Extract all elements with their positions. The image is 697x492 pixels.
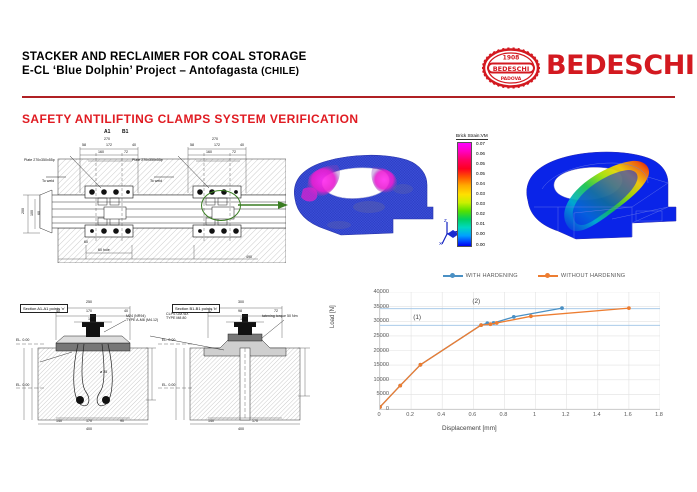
chart-x-tick-2: 0.4 [429,412,453,418]
dim-inner-left-1: 160 [98,150,104,154]
fea-tick-6: 0.03 [476,201,485,206]
chart-plot-area [379,292,660,410]
bedeschi-wordmark: BEDESCHI [546,50,695,81]
fea-color-bar [457,142,472,247]
fea-color-legend: Brick Strain:VM 0.07 0.06 0.05 0.05 0.04… [456,133,512,255]
dim-bottom-left: 60 [84,240,88,244]
torque-note: tatening torque 50 Nm [262,314,298,318]
section-a-label: Section A1-A1 points 'n' [20,304,68,313]
callout-a1: A1 [104,129,110,135]
anchor-note: ø 25 [100,370,107,374]
level-note-4: EL. 0.00 [162,383,175,387]
fea-tick-0: 0.07 [476,141,485,146]
fea-tick-8: 0.01 [476,221,485,226]
fea-tick-3: 0.05 [476,171,485,176]
section-title: SAFETY ANTILIFTING CLAMPS SYSTEM VERIFIC… [22,112,358,126]
legend-item-without-hardening[interactable]: WITHOUT HARDENING [538,273,626,279]
dim-b-row-2: 98 [238,309,242,313]
slide-subtitle-main: E-CL ‘Blue Dolphin’ Project – Antofagast… [22,65,261,77]
dim-vertical-2: 100 [30,210,34,216]
detail-highlight-ellipse [201,190,241,221]
weld-note-right: To weld [150,179,162,183]
chart-y-tick-6: 30000 [349,318,389,324]
dim-part-left-2: 172 [106,143,112,147]
dim-a-row-2: 170 [86,309,92,313]
fea-tick-2: 0.05 [476,161,485,166]
legend-swatch-without-hardening [538,275,558,277]
level-note-2: EL. 0.00 [16,383,29,387]
svg-text:Z: Z [444,218,447,223]
plate-label-right: Plate 270x350x55p [132,158,163,162]
dim-a-row-3: 40 [124,309,128,313]
bedeschi-emblem-icon: 1908 BEDESCHI PADOVA [482,47,540,89]
chart-svg [380,292,660,409]
fea-tick-10: 0.00 [476,242,485,247]
dim-inner-right-2: 72 [232,150,236,154]
slide-subtitle-country: (CHILE) [261,66,299,77]
level-note-3: EL. 0.00 [162,338,175,342]
dim-vertical-3: 60 [37,211,41,215]
slide-title-line-2: E-CL ‘Blue Dolphin’ Project – Antofagast… [22,64,306,79]
title-block: STACKER AND RECLAIMER FOR COAL STORAGE E… [22,50,306,79]
dim-a-bottom-2: 170 [86,419,92,423]
chart-y-tick-1: 5000 [349,391,389,397]
technical-drawing-sections: Section A1-A1 points 'n' Section B1-B1 p… [16,300,316,440]
dim-b-bottom-2: 170 [252,419,258,423]
load-displacement-chart: WITH HARDENING WITHOUT HARDENING Load [N… [332,270,692,442]
dim-a-bottom-1: 140 [56,419,62,423]
dim-b-top: 300 [238,300,244,304]
chart-annotation-1: (2) [472,298,480,305]
legend-item-with-hardening[interactable]: WITH HARDENING [443,273,518,279]
chart-x-tick-4: 0.8 [491,412,515,418]
bolt-note-a: M24 (NR94) TYPE A-M8 (M4.12) [126,314,158,322]
chart-x-tick-7: 1.4 [585,412,609,418]
dim-hole-note: 60 hole [98,248,110,252]
chart-legend: WITH HARDENING WITHOUT HARDENING [384,270,684,282]
fea-legend-title: Brick Strain:VM [456,133,488,140]
fea-tick-4: 0.04 [476,181,485,186]
legend-label-with-hardening: WITH HARDENING [466,273,518,279]
svg-text:BEDESCHI: BEDESCHI [493,65,530,73]
dim-bottom-right: 490 [246,255,252,259]
weld-note-left: To weld [42,179,54,183]
chart-x-tick-8: 1.6 [616,412,640,418]
dim-inner-right-1: 160 [206,150,212,154]
chart-y-tick-3: 15000 [349,362,389,368]
fea-contour-model [512,133,692,263]
fea-mesh-model [281,133,457,261]
plate-label-left: Plate 270x350x55p [24,158,55,162]
dim-part-right-3: 40 [240,143,244,147]
chart-y-tick-4: 20000 [349,348,389,354]
dim-overall-left: 270 [104,137,110,141]
dim-b-inner: 160 [240,317,246,321]
fea-tick-5: 0.03 [476,191,485,196]
fea-tick-7: 0.02 [476,211,485,216]
chart-x-tick-6: 1.2 [554,412,578,418]
dim-inner-left-2: 72 [124,150,128,154]
chart-y-tick-7: 35000 [349,304,389,310]
dim-vertical-1: 200 [21,208,25,214]
dim-part-left-3: 40 [132,143,136,147]
fea-tick-9: 0.00 [476,231,485,236]
dim-a-bottom-3: 90 [120,419,124,423]
chart-x-tick-3: 0.6 [460,412,484,418]
dim-a-inner: 160 [88,317,94,321]
dim-b-total: 400 [238,427,244,431]
dim-a-row-1: 40 [56,309,60,313]
chart-y-tick-8: 40000 [349,289,389,295]
technical-drawing-plan-view: A1 B1 270 270 58 172 40 58 172 40 160 72… [18,133,286,263]
chart-x-axis-title: Displacement [mm] [442,425,497,432]
dim-part-right-2: 172 [214,143,220,147]
dim-b-bottom-1: 140 [208,419,214,423]
chart-y-tick-2: 10000 [349,377,389,383]
header-divider [22,96,675,98]
dim-a-top: 250 [86,300,92,304]
chart-y-axis-title: Load [N] [330,305,336,328]
svg-text:X: X [439,241,442,246]
slide-title-line-1: STACKER AND RECLAIMER FOR COAL STORAGE [22,50,306,64]
svg-text:PADOVA: PADOVA [501,76,522,82]
callout-b1: B1 [122,129,128,135]
chart-x-tick-0: 0 [367,412,391,418]
dim-a-total: 400 [86,427,92,431]
level-note-1: EL. 0.00 [16,338,29,342]
legend-label-without-hardening: WITHOUT HARDENING [561,273,626,279]
chart-y-tick-5: 25000 [349,333,389,339]
svg-text:1908: 1908 [503,55,520,62]
dim-b-row-1: 57 [208,309,212,313]
dim-b-row-3: 72 [274,309,278,313]
dim-part-right-1: 58 [190,143,194,147]
fea-tick-1: 0.06 [476,151,485,156]
bedeschi-logo: 1908 BEDESCHI PADOVA BEDESCHI [482,46,675,90]
bolt-note-b: CLPS GM78X TYPE M8 80 [166,312,189,320]
chart-x-tick-5: 1 [523,412,547,418]
dim-overall-right: 270 [212,137,218,141]
legend-swatch-with-hardening [443,275,463,277]
slide-header: STACKER AND RECLAIMER FOR COAL STORAGE E… [0,0,697,98]
dim-part-left-1: 58 [82,143,86,147]
chart-x-tick-1: 0.2 [398,412,422,418]
chart-annotation-0: (1) [413,314,421,321]
chart-x-tick-9: 1.8 [647,412,671,418]
